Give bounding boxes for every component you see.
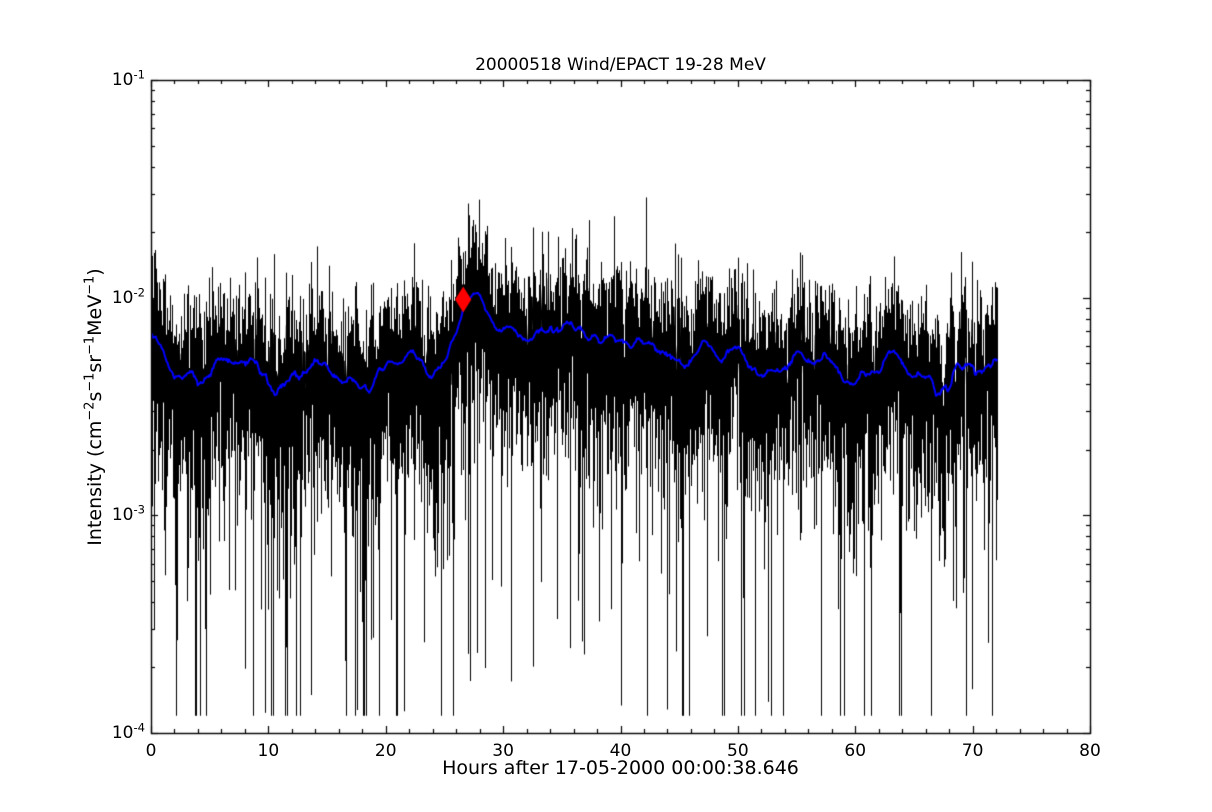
y-tick-label: 10-4: [103, 723, 145, 743]
x-tick-label: 70: [962, 741, 984, 761]
y-tick-label: 10-3: [103, 505, 145, 525]
plot-canvas: [0, 0, 1212, 812]
y-axis-label: Intensity (cm−2s−1sr−1MeV−1): [84, 107, 106, 707]
figure-container: 20000518 Wind/EPACT 19-28 MeV Hours afte…: [0, 0, 1212, 812]
x-tick-label: 40: [610, 741, 632, 761]
chart-title: 20000518 Wind/EPACT 19-28 MeV: [151, 55, 1090, 75]
x-tick-label: 0: [146, 741, 157, 761]
y-tick-label: 10-1: [103, 70, 145, 90]
x-tick-label: 80: [1079, 741, 1101, 761]
x-tick-label: 60: [844, 741, 866, 761]
x-tick-label: 50: [727, 741, 749, 761]
x-tick-label: 10: [258, 741, 280, 761]
y-tick-label: 10-2: [103, 288, 145, 308]
x-tick-label: 30: [492, 741, 514, 761]
x-tick-label: 20: [375, 741, 397, 761]
